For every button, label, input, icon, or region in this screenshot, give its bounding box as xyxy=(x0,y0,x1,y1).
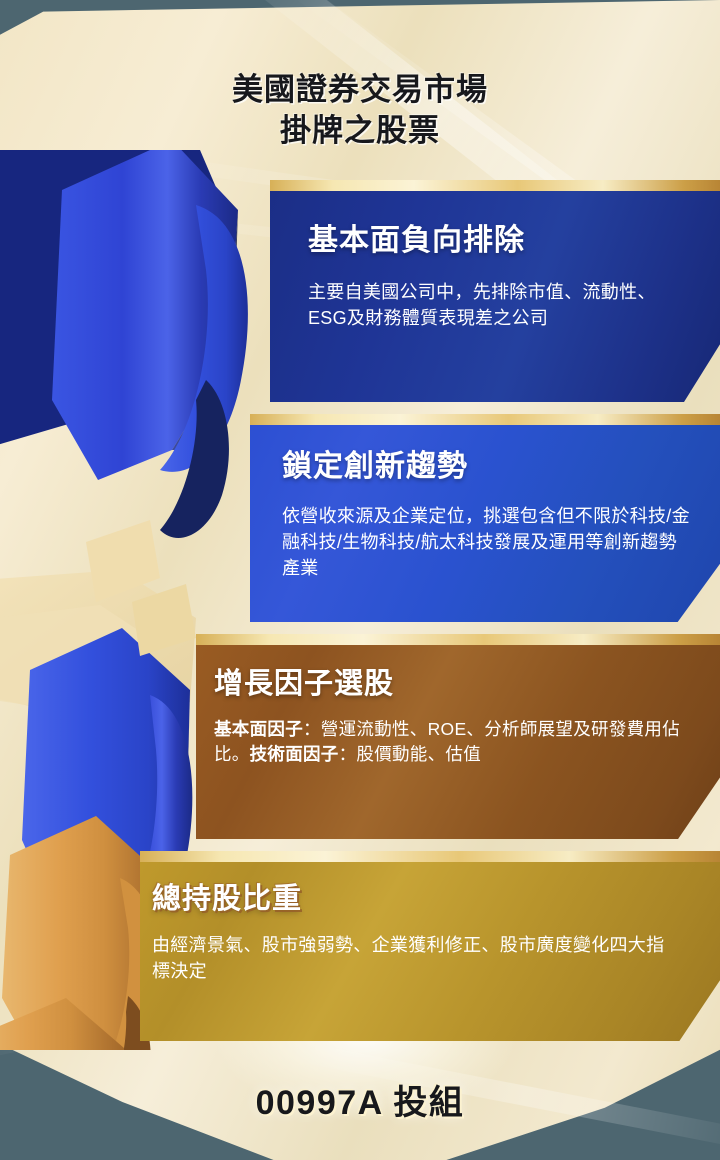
step-panel-3[interactable]: 增長因子選股 基本面因子：營運流動性、ROE、分析師展望及研發費用佔比。技術面因… xyxy=(196,634,720,839)
panel-gold-divider xyxy=(140,851,720,862)
footer-label: 00997A 投組 xyxy=(0,1075,720,1124)
page-title-line-2: 掛牌之股票 xyxy=(0,111,720,152)
step-3-description: 基本面因子：營運流動性、ROE、分析師展望及研發費用佔比。技術面因子：股價動能、… xyxy=(214,717,684,768)
page-title: 美國證券交易市場 掛牌之股票 xyxy=(0,70,720,152)
panel-gold-divider xyxy=(270,180,720,191)
page-title-line-1: 美國證券交易市場 xyxy=(0,70,720,111)
step-panel-2[interactable]: 鎖定創新趨勢 依營收來源及企業定位，挑選包含但不限於科技/金融科技/生物科技/航… xyxy=(250,414,720,622)
step-1-description: 主要自美國公司中，先排除市值、流動性、ESG及財務體質表現差之公司 xyxy=(308,279,686,331)
step-panel-4[interactable]: 總持股比重 由經濟景氣、股市強弱勢、企業獲利修正、股市廣度變化四大指標決定 xyxy=(140,851,720,1041)
step-4-heading: 總持股比重 xyxy=(152,884,302,914)
panel-gold-divider xyxy=(250,414,720,425)
step-2-heading: 鎖定創新趨勢 xyxy=(282,451,468,483)
step-3-heading: 增長因子選股 xyxy=(214,669,394,699)
panel-gold-divider xyxy=(196,634,720,645)
step-1-heading: 基本面負向排除 xyxy=(308,225,525,257)
infographic-canvas: 美國證券交易市場 掛牌之股票 xyxy=(0,0,720,1160)
step-2-description: 依營收來源及企業定位，挑選包含但不限於科技/金融科技/生物科技/航太科技發展及運… xyxy=(282,503,694,581)
step-panel-1[interactable]: 基本面負向排除 主要自美國公司中，先排除市值、流動性、ESG及財務體質表現差之公… xyxy=(270,180,720,402)
step-4-description: 由經濟景氣、股市強弱勢、企業獲利修正、股市廣度變化四大指標決定 xyxy=(152,932,672,984)
